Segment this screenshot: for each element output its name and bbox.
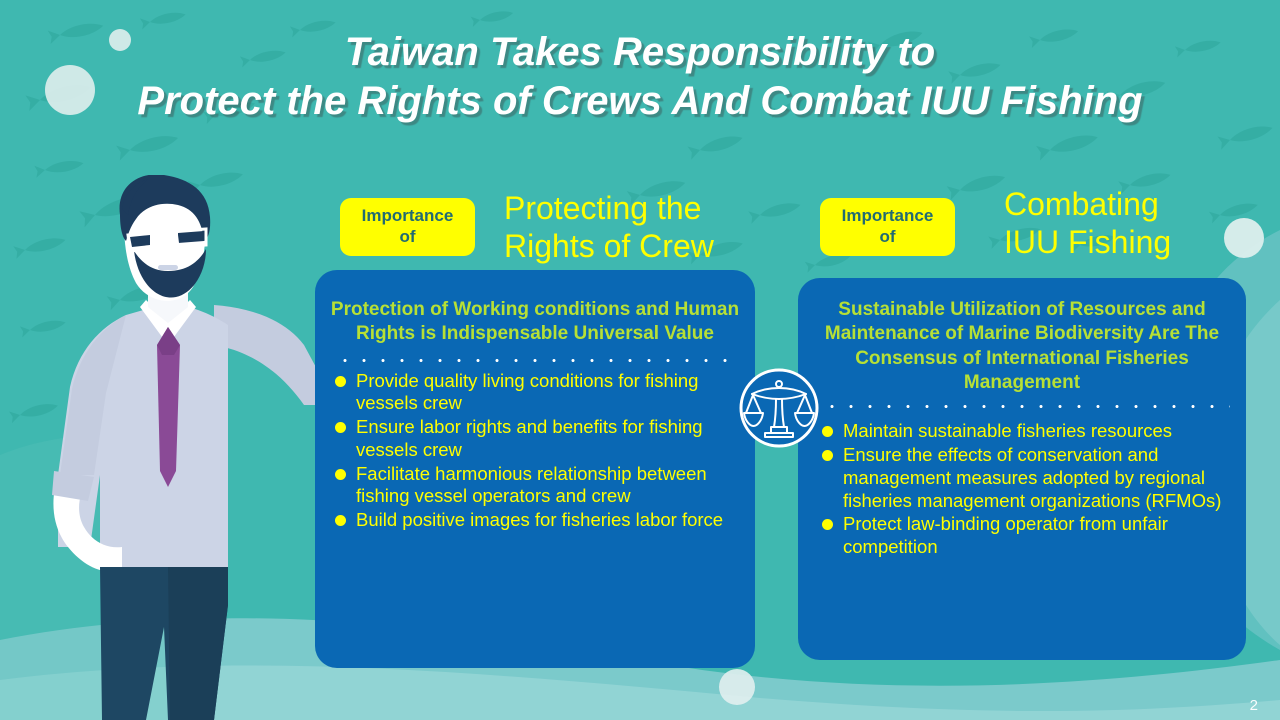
panel-left-bullet-list: Provide quality living conditions for fi… (315, 370, 755, 532)
page-title: Taiwan Takes Responsibility to Protect t… (0, 28, 1280, 126)
section-heading-left: Protecting the Rights of Crew (504, 190, 804, 266)
importance-tag-right-line1: Importance (842, 206, 934, 227)
importance-tag-right-line2: of (879, 227, 895, 248)
panel-right: Sustainable Utilization of Resources and… (798, 278, 1246, 660)
list-item: Ensure labor rights and benefits for fis… (333, 416, 741, 462)
importance-tag-left-line1: Importance (362, 206, 454, 227)
businessman-illustration (18, 175, 318, 720)
importance-tag-right: Importance of (820, 198, 955, 256)
list-item: Ensure the effects of conservation and m… (820, 444, 1228, 512)
panel-left-heading: Protection of Working conditions and Hum… (315, 298, 755, 347)
panel-left: Protection of Working conditions and Hum… (315, 270, 755, 668)
importance-tag-left-line2: of (399, 227, 415, 248)
panel-right-divider (814, 405, 1230, 408)
panel-left-divider (331, 359, 739, 362)
slide: Taiwan Takes Responsibility to Protect t… (0, 0, 1280, 720)
list-item: Facilitate harmonious relationship betwe… (333, 463, 741, 509)
importance-tag-left: Importance of (340, 198, 475, 256)
scales-of-justice-icon (738, 367, 820, 449)
list-item: Protect law-binding operator from unfair… (820, 513, 1228, 559)
panel-right-bullet-list: Maintain sustainable fisheries resources… (798, 420, 1246, 559)
list-item: Provide quality living conditions for fi… (333, 370, 741, 416)
panel-right-heading: Sustainable Utilization of Resources and… (798, 298, 1246, 395)
list-item: Build positive images for fisheries labo… (333, 509, 741, 532)
page-number: 2 (1250, 697, 1258, 714)
list-item: Maintain sustainable fisheries resources (820, 420, 1228, 443)
section-heading-right: Combating IUU Fishing (1004, 186, 1280, 262)
